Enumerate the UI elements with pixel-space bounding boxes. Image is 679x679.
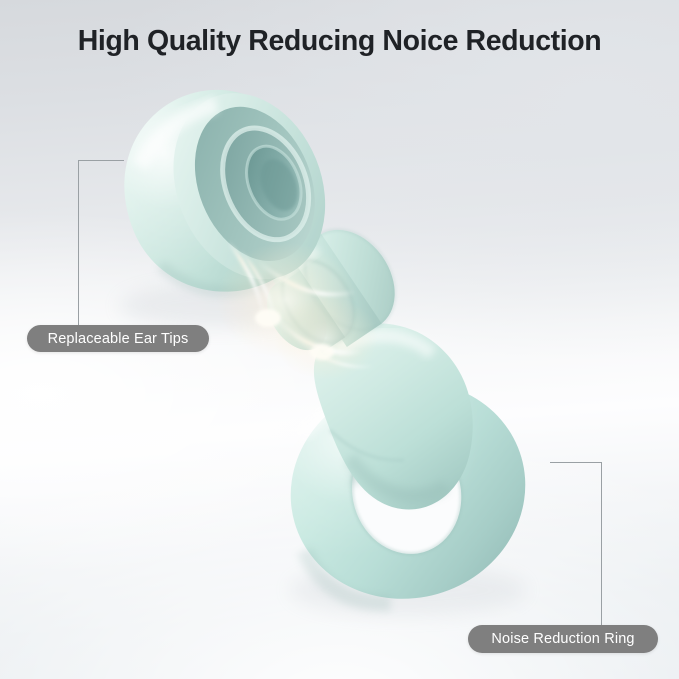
leader-line-ear-tips-horizontal: [78, 160, 124, 161]
noise-reduction-ring-shape: [265, 354, 551, 627]
callout-label-noise-reduction-ring: Noise Reduction Ring: [491, 631, 634, 647]
replaceable-ear-tip: [94, 59, 352, 322]
leader-line-ring-horizontal: [550, 462, 602, 463]
page-title: High Quality Reducing Noice Reduction: [0, 26, 679, 57]
product-infographic: High Quality Reducing Noice Reduction Re…: [0, 0, 679, 679]
callout-label-ear-tips: Replaceable Ear Tips: [48, 331, 189, 347]
ear-tip-shadow: [119, 284, 311, 328]
earplug-stem: [246, 213, 413, 375]
glow-effect: [216, 242, 378, 380]
ear-tip-rim: [147, 70, 352, 302]
ear-tip-bore: [236, 138, 311, 227]
leader-line-ear-tips-vertical: [78, 160, 79, 326]
ring-shadow: [290, 564, 526, 616]
ear-tip-cavity: [173, 89, 337, 279]
callout-noise-reduction-ring: Noise Reduction Ring: [468, 625, 658, 653]
leader-line-ring-vertical: [601, 462, 602, 626]
earplug-body: [314, 323, 473, 509]
callout-replaceable-ear-tips: Replaceable Ear Tips: [27, 325, 209, 352]
